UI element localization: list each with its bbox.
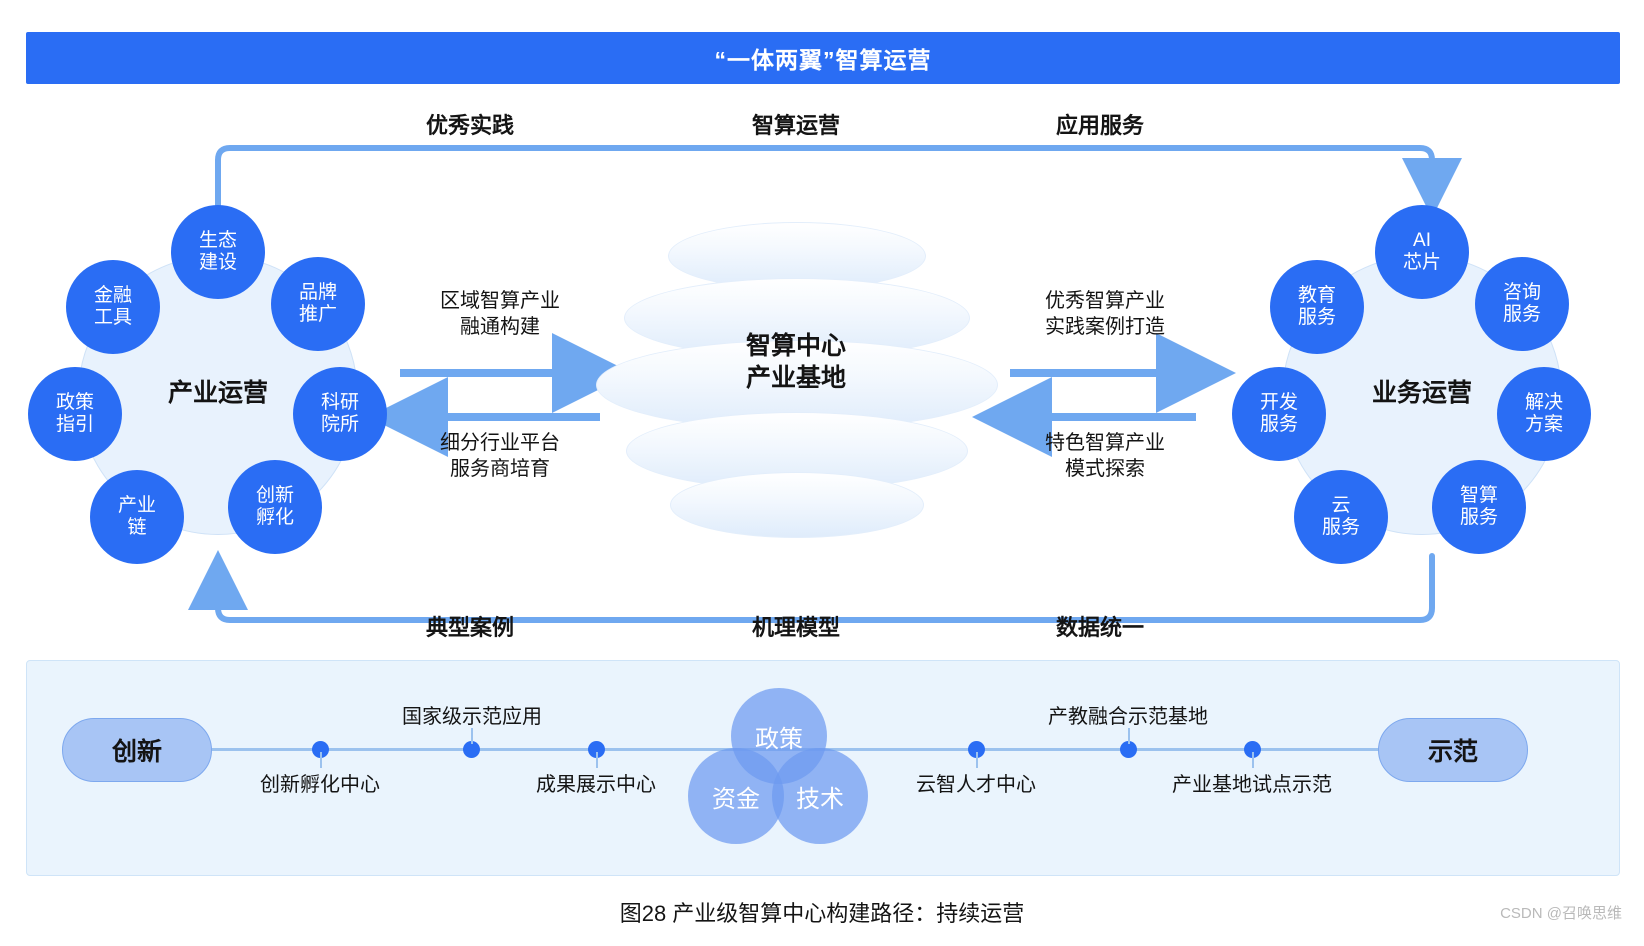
roadmap-tick-5 [1128, 728, 1130, 744]
venn-circle-funding[interactable]: 资金 [688, 748, 784, 844]
roadmap-tick-2 [976, 752, 978, 768]
left-bubble-6-label: 金融工具 [90, 285, 136, 329]
flow-label-top-1: 智算运营 [696, 108, 896, 140]
roadmap-node-label-5: 产教融合示范基地 [1016, 700, 1240, 729]
center-stack-compute-base: 智算中心产业基地 [596, 200, 996, 540]
roadmap-end-pill-label: 示范 [1428, 732, 1478, 768]
left-bubble-4-label: 产业链 [114, 495, 160, 539]
arrow-caption-left-back: 细分行业平台服务商培育 [400, 430, 600, 482]
flow-label-bottom-0: 典型案例 [370, 610, 570, 642]
left-bubble-0-label: 生态建设 [195, 230, 241, 274]
venn-circle-funding-label: 资金 [712, 779, 760, 814]
right-bubble-1[interactable]: 咨询服务 [1475, 257, 1569, 351]
roadmap-tick-4 [471, 728, 473, 744]
roadmap-tick-1 [596, 752, 598, 768]
roadmap-node-label-3: 产业基地试点示范 [1140, 768, 1364, 797]
roadmap-node-label-0: 创新孵化中心 [220, 768, 420, 797]
right-bubble-2-label: 解决方案 [1521, 392, 1567, 436]
left-bubble-1-label: 品牌推广 [295, 282, 341, 326]
watermark: CSDN @召唤思维 [1500, 902, 1622, 923]
right-bubble-6[interactable]: 教育服务 [1270, 260, 1364, 354]
roadmap-tick-3 [1252, 752, 1254, 768]
stack-disc-5 [670, 472, 924, 538]
left-bubble-4[interactable]: 产业链 [90, 470, 184, 564]
left-bubble-5[interactable]: 政策指引 [28, 367, 122, 461]
right-bubble-0-label: AI芯片 [1399, 230, 1445, 274]
flow-label-bottom-1: 机理模型 [696, 610, 896, 642]
right-bubble-5[interactable]: 开发服务 [1232, 367, 1326, 461]
venn-circle-technology[interactable]: 技术 [772, 748, 868, 844]
left-bubble-3-label: 创新孵化 [252, 485, 298, 529]
arrow-caption-right-forward: 优秀智算产业实践案例打造 [1000, 288, 1210, 340]
left-bubble-6[interactable]: 金融工具 [66, 260, 160, 354]
flow-label-top-2: 应用服务 [1000, 108, 1200, 140]
left-bubble-3[interactable]: 创新孵化 [228, 460, 322, 554]
arrow-caption-right-back: 特色智算产业模式探索 [1000, 430, 1210, 482]
flow-label-top-0: 优秀实践 [370, 108, 570, 140]
left-bubble-2[interactable]: 科研院所 [293, 367, 387, 461]
center-stack-label: 智算中心产业基地 [596, 330, 996, 394]
right-bubble-4-label: 云服务 [1318, 495, 1364, 539]
roadmap-end-pill[interactable]: 示范 [1378, 718, 1528, 782]
left-bubble-2-label: 科研院所 [317, 392, 363, 436]
arrow-caption-left-forward: 区域智算产业融通构建 [400, 288, 600, 340]
left-bubble-0[interactable]: 生态建设 [171, 205, 265, 299]
right-bubble-1-label: 咨询服务 [1499, 282, 1545, 326]
right-bubble-4[interactable]: 云服务 [1294, 470, 1388, 564]
roadmap-node-label-4: 国家级示范应用 [372, 700, 572, 729]
left-cluster-industry-operation: 产业运营 生态建设 品牌推广 科研院所 创新孵化 产业链 政策指引 金融工具 [28, 205, 408, 585]
roadmap-node-label-1: 成果展示中心 [496, 768, 696, 797]
banner-title: “一体两翼”智算运营 [715, 41, 932, 75]
figure-caption: 图28 产业级智算中心构建路径：持续运营 [0, 896, 1644, 928]
venn-circle-technology-label: 技术 [796, 779, 844, 814]
right-bubble-3-label: 智算服务 [1456, 485, 1502, 529]
left-bubble-1[interactable]: 品牌推广 [271, 257, 365, 351]
header-banner: “一体两翼”智算运营 [26, 32, 1620, 84]
roadmap-start-pill-label: 创新 [112, 732, 162, 768]
right-bubble-0[interactable]: AI芯片 [1375, 205, 1469, 299]
right-cluster-business-operation: 业务运营 AI芯片 咨询服务 解决方案 智算服务 云服务 开发服务 教育服务 [1232, 205, 1612, 585]
diagram-canvas: “一体两翼”智算运营 优秀实践 智算运营 应用服务 典型案例 机理模型 数据统一… [0, 0, 1644, 946]
flow-label-bottom-2: 数据统一 [1000, 610, 1200, 642]
roadmap-tick-0 [320, 752, 322, 768]
venn-circle-policy-label: 政策 [755, 719, 803, 754]
right-bubble-6-label: 教育服务 [1294, 285, 1340, 329]
roadmap-node-label-2: 云智人才中心 [876, 768, 1076, 797]
roadmap-start-pill[interactable]: 创新 [62, 718, 212, 782]
right-bubble-3[interactable]: 智算服务 [1432, 460, 1526, 554]
right-bubble-2[interactable]: 解决方案 [1497, 367, 1591, 461]
left-bubble-5-label: 政策指引 [52, 392, 98, 436]
right-bubble-5-label: 开发服务 [1256, 392, 1302, 436]
